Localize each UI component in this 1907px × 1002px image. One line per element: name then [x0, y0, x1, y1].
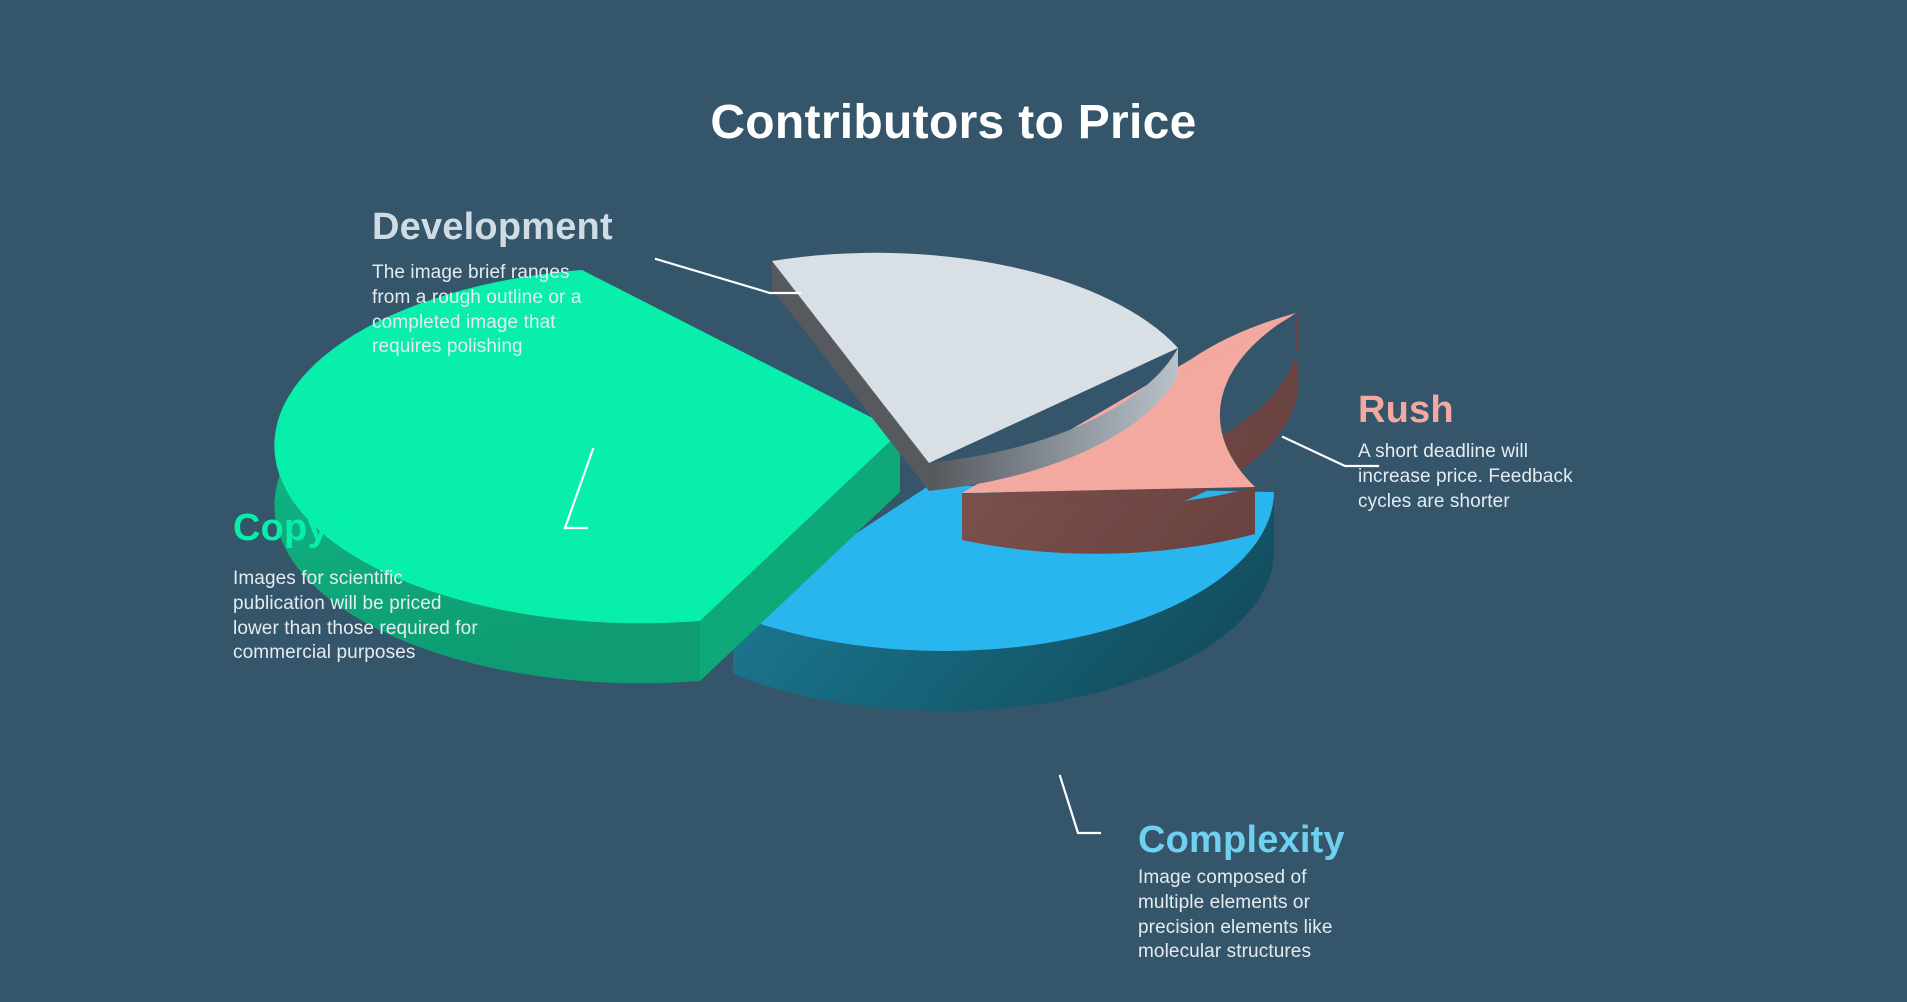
callout-rush-heading: Rush — [1358, 390, 1658, 430]
leader-line-complexity — [1060, 776, 1100, 833]
callout-development: Development The image brief ranges from … — [372, 207, 672, 360]
infographic-canvas: Contributors to Price Development The im… — [0, 0, 1907, 1002]
callout-rush: Rush A short deadline will increase pric… — [1358, 390, 1658, 514]
callout-rush-body: A short deadline will increase price. Fe… — [1358, 440, 1590, 514]
callout-copyright-body: Images for scientific publication will b… — [233, 567, 485, 666]
callout-development-body: The image brief ranges from a rough outl… — [372, 261, 612, 360]
callout-development-heading: Development — [372, 207, 672, 247]
callout-complexity: Complexity Image composed of multiple el… — [1138, 820, 1478, 965]
callout-copyright-heading: Copyright — [233, 508, 533, 548]
page-title: Contributors to Price — [0, 95, 1907, 150]
callout-complexity-body: Image composed of multiple elements or p… — [1138, 866, 1378, 965]
callout-complexity-heading: Complexity — [1138, 820, 1478, 860]
callout-copyright: Copyright Images for scientific publicat… — [233, 508, 533, 666]
